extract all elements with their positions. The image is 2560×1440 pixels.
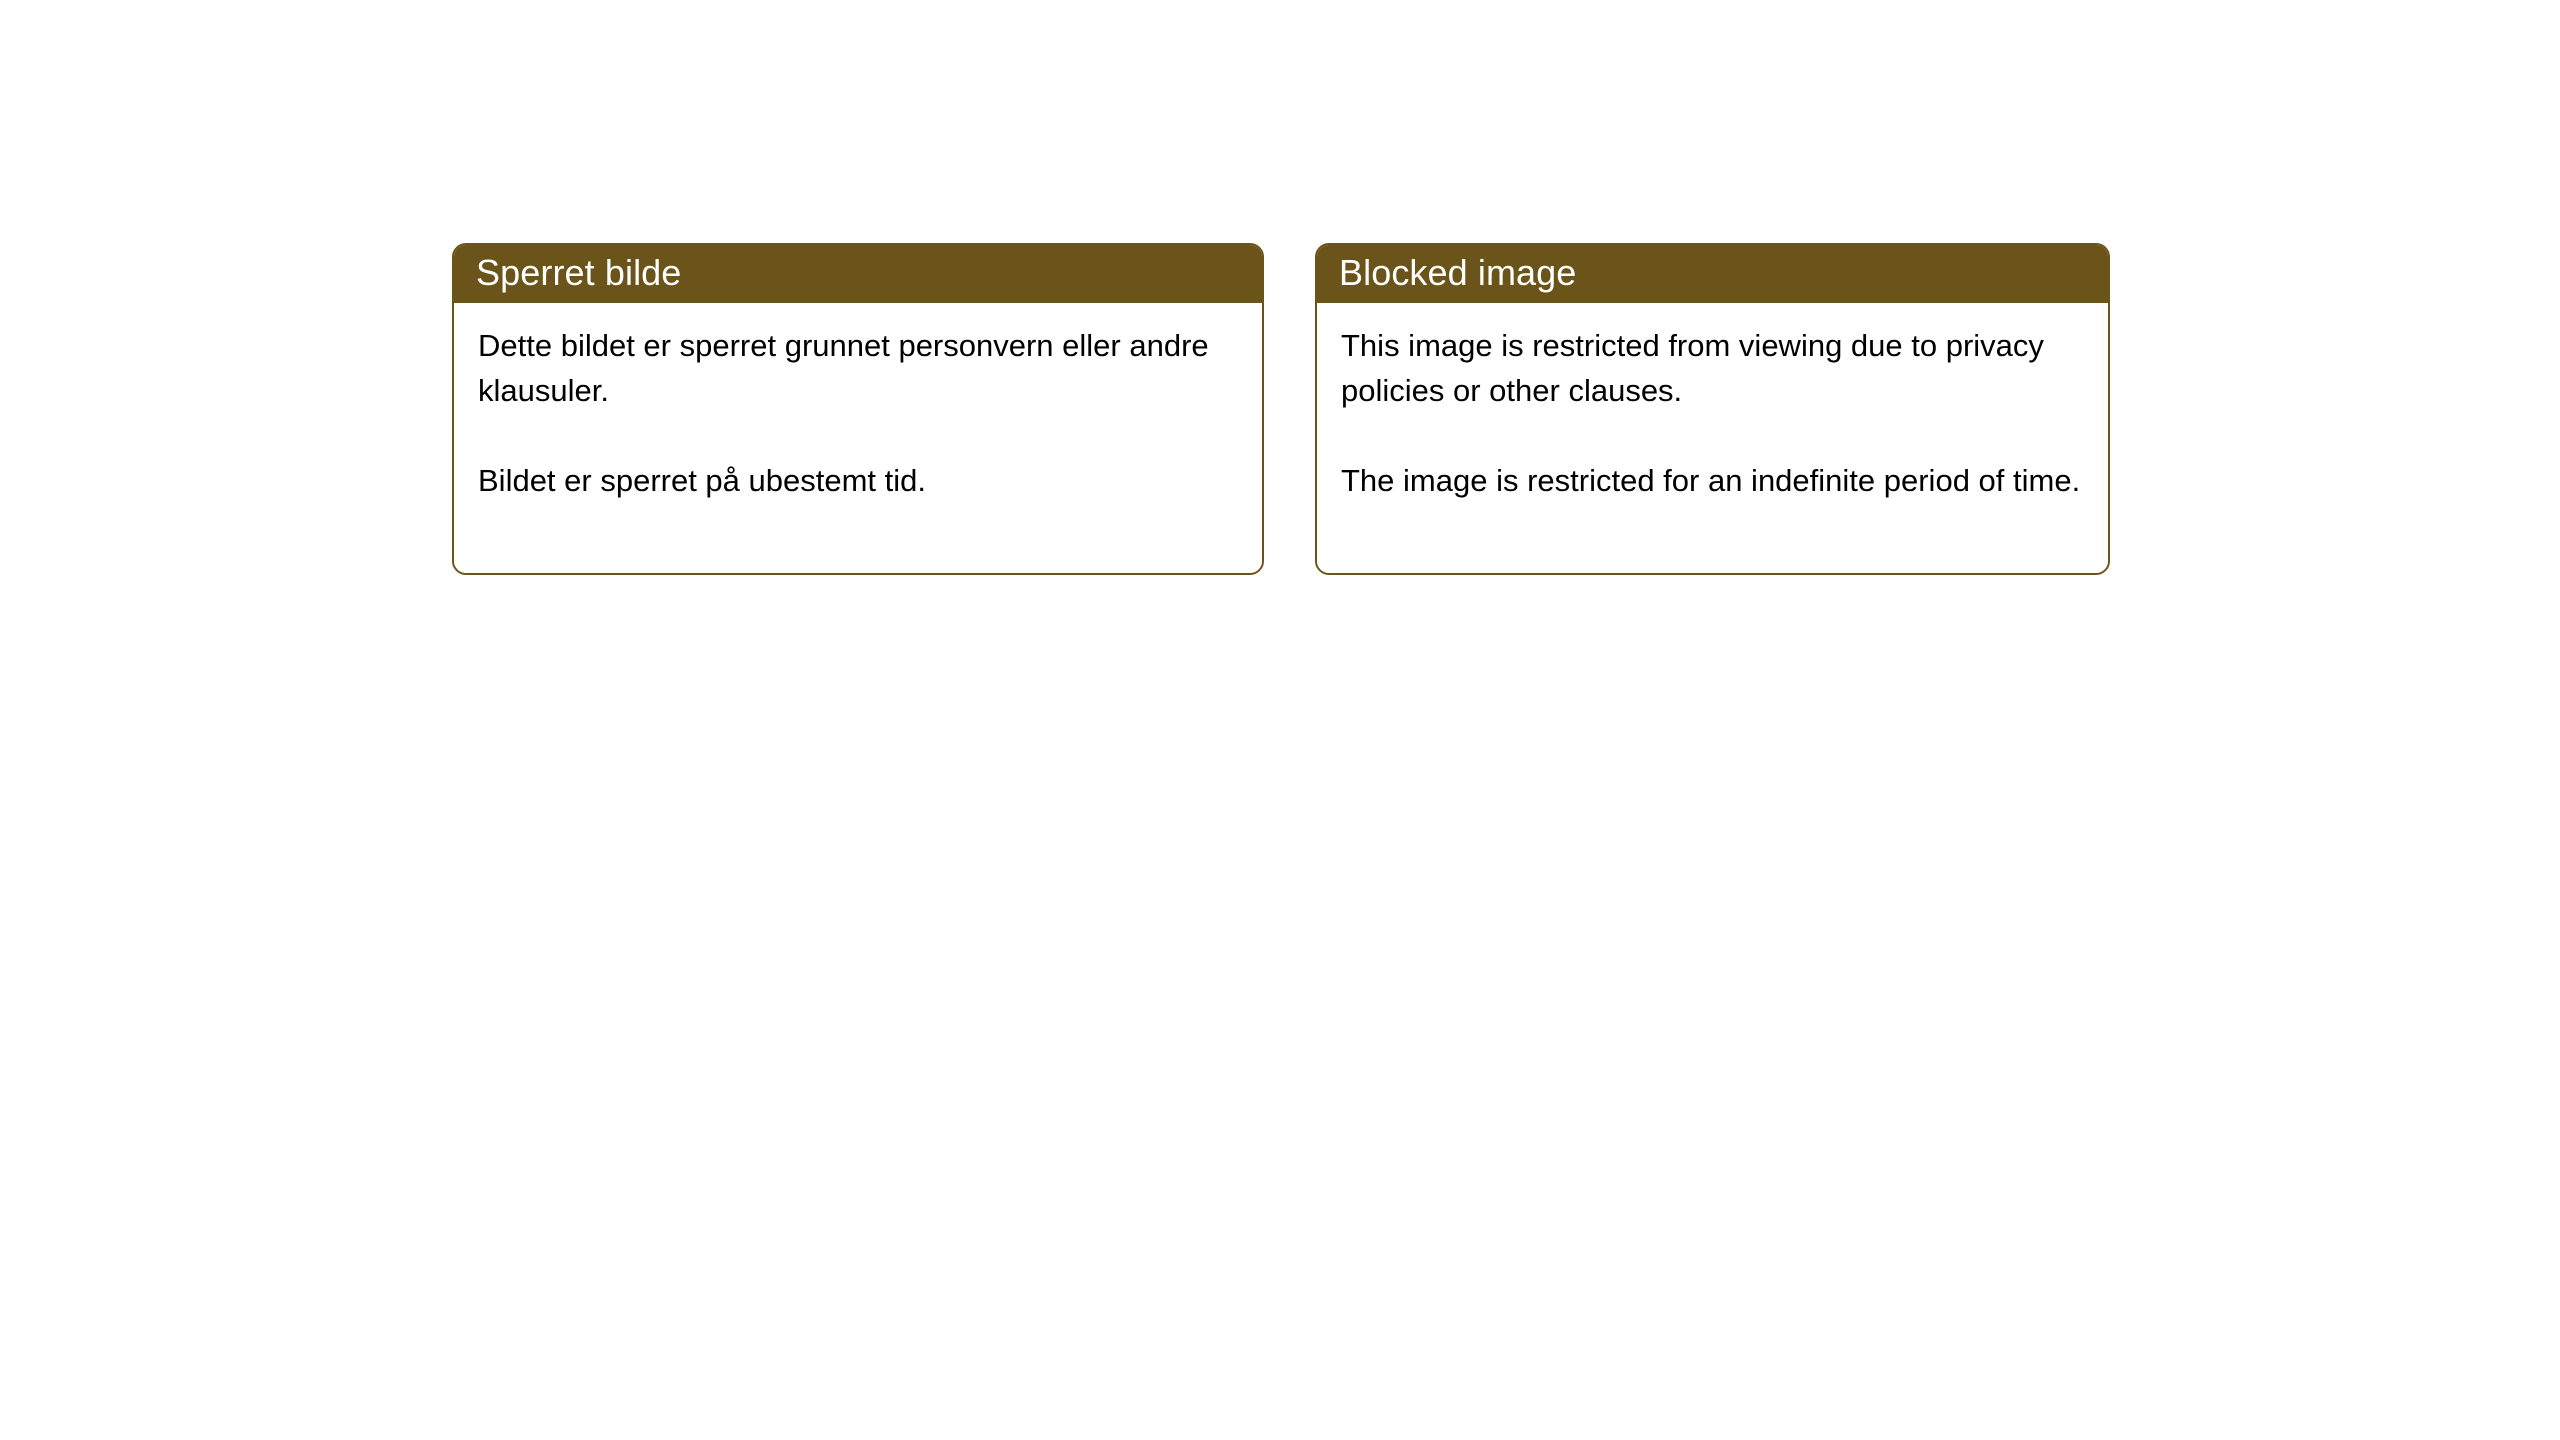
blocked-image-notice-group: Sperret bilde Dette bildet er sperret gr… [452,243,2110,575]
card-paragraph-secondary-english: The image is restricted for an indefinit… [1341,458,2082,503]
card-paragraph-secondary-norwegian: Bildet er sperret på ubestemt tid. [478,458,1236,503]
card-title-norwegian: Sperret bilde [476,252,681,294]
card-header-english: Blocked image [1315,243,2110,303]
card-body-norwegian: Dette bildet er sperret grunnet personve… [454,303,1262,573]
card-title-english: Blocked image [1339,252,1576,294]
card-body-english: This image is restricted from viewing du… [1317,303,2108,573]
page-root: Sperret bilde Dette bildet er sperret gr… [0,0,2560,1440]
card-header-norwegian: Sperret bilde [452,243,1264,303]
blocked-image-card-norwegian: Sperret bilde Dette bildet er sperret gr… [452,243,1264,575]
card-paragraph-primary-english: This image is restricted from viewing du… [1341,323,2082,413]
card-paragraph-primary-norwegian: Dette bildet er sperret grunnet personve… [478,323,1236,413]
blocked-image-card-english: Blocked image This image is restricted f… [1315,243,2110,575]
